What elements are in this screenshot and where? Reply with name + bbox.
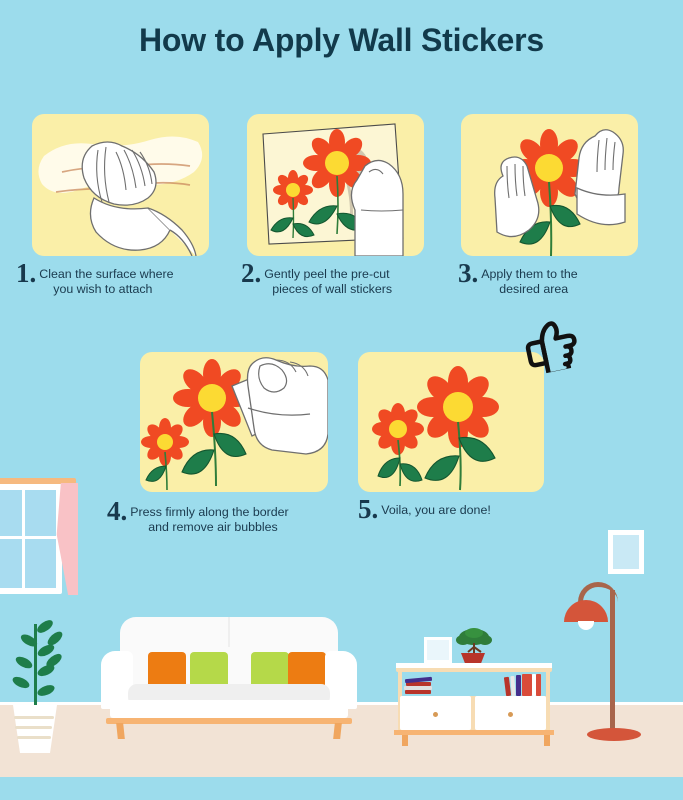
peel-sticker-sheet-icon	[247, 114, 424, 256]
bonsai-pot	[461, 653, 485, 663]
step-1-text: Clean the surface whereyou wish to attac…	[39, 260, 173, 296]
step-5-number: 5.	[358, 496, 378, 523]
step-1-illustration	[32, 114, 209, 256]
step-4-number: 4.	[107, 498, 127, 525]
finished-stickers-icon	[358, 352, 544, 492]
step-5-illustration	[358, 352, 544, 492]
step-2-number: 2.	[241, 260, 261, 287]
bottom-blue-bar	[0, 777, 683, 800]
book	[516, 675, 521, 696]
sofa-back-seam	[228, 617, 230, 647]
press-border-icon	[140, 352, 328, 492]
step-3-text: Apply them to thedesired area	[481, 260, 577, 296]
wall-picture-frame-inner	[613, 535, 639, 569]
book	[405, 690, 431, 694]
step-4-text: Press firmly along the borderand remove …	[130, 498, 288, 534]
step-4-illustration	[140, 352, 328, 492]
step-1-number: 1.	[16, 260, 36, 287]
step-3-number: 3.	[458, 260, 478, 287]
plant-stem	[34, 624, 37, 708]
sofa-base	[110, 700, 348, 718]
sofa-pillow-orange	[288, 652, 326, 688]
step-3: 3. Apply them to thedesired area	[461, 114, 638, 256]
step-2-caption: 2. Gently peel the pre-cutpieces of wall…	[241, 260, 456, 296]
step-1: 1. Clean the surface whereyou wish to at…	[32, 114, 209, 256]
step-5: 5. Voila, you are done!	[358, 352, 544, 492]
sofa-pillow-orange	[148, 652, 186, 688]
sideboard-top-surface	[396, 663, 552, 668]
step-5-caption: 5. Voila, you are done!	[358, 496, 568, 523]
lamp-base	[587, 728, 641, 741]
drawer-knob[interactable]	[433, 712, 438, 717]
step-5-text: Voila, you are done!	[381, 496, 491, 518]
step-1-caption: 1. Clean the surface whereyou wish to at…	[16, 260, 231, 296]
sofa-rail	[106, 718, 352, 724]
step-4-caption: 4. Press firmly along the borderand remo…	[107, 498, 362, 534]
drawer-knob[interactable]	[508, 712, 513, 717]
step-4: 4. Press firmly along the borderand remo…	[140, 352, 328, 492]
hand-wiping-wall-icon	[32, 114, 209, 256]
shelf-picture-frame-inner	[427, 640, 449, 660]
sideboard-rail	[394, 730, 554, 735]
page-title: How to Apply Wall Stickers	[0, 22, 683, 59]
step-2: 2. Gently peel the pre-cutpieces of wall…	[247, 114, 424, 256]
flower-large	[417, 366, 499, 448]
infographic-root: How to Apply Wall Stickers	[0, 0, 683, 800]
thumbs-up-icon	[519, 320, 579, 372]
apply-sticker-icon	[461, 114, 638, 256]
book	[404, 686, 432, 690]
window-glass	[0, 490, 56, 588]
book	[536, 674, 541, 696]
step-2-text: Gently peel the pre-cutpieces of wall st…	[264, 260, 392, 296]
sofa-pillow-green	[190, 652, 228, 688]
step-3-illustration	[461, 114, 638, 256]
step-2-illustration	[247, 114, 424, 256]
bonsai-plant	[455, 627, 493, 657]
step-3-caption: 3. Apply them to thedesired area	[458, 260, 658, 296]
window-mullion-vertical	[22, 490, 25, 588]
sideboard-leg	[544, 735, 550, 746]
sideboard-leg	[402, 735, 408, 746]
sofa-pillow-green	[251, 652, 289, 688]
window-mullion-horizontal	[0, 536, 56, 539]
book	[522, 674, 532, 696]
